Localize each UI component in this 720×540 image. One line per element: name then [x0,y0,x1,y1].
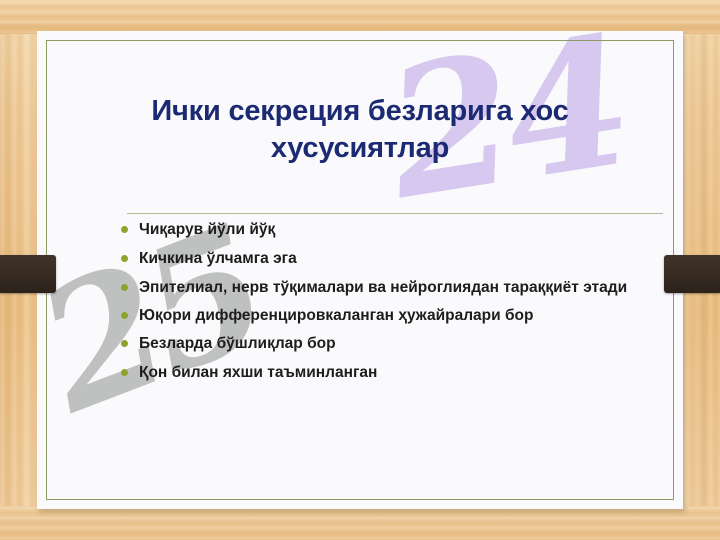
clip-left [0,255,56,293]
list-item: Чиқарув йўли йўқ [117,220,677,239]
slide-content: Ички секреция безларига хос хусусиятлар … [37,31,683,509]
wood-background-top-band [0,0,720,34]
slide-card: 24 25 Ички секреция безларига хос хусуси… [37,31,683,509]
bullet-list: Чиқарув йўли йўқ Кичкина ўлчамга эга Эпи… [117,220,677,392]
clip-right [664,255,720,293]
list-item: Қон билан яхши таъминланган [117,363,677,382]
slide-canvas: 24 25 Ички секреция безларига хос хусуси… [0,0,720,540]
list-item: Безларда бўшлиқлар бор [117,334,677,353]
wood-background-bottom-band [0,506,720,540]
list-item: Эпителиал, нерв тўқималари ва нейроглияд… [117,278,677,297]
page-title: Ички секреция безларига хос хусусиятлар [85,93,635,167]
title-divider [127,213,663,214]
list-item: Юқори дифференцировкаланган ҳужайралари … [117,306,677,325]
list-item: Кичкина ўлчамга эга [117,249,677,268]
